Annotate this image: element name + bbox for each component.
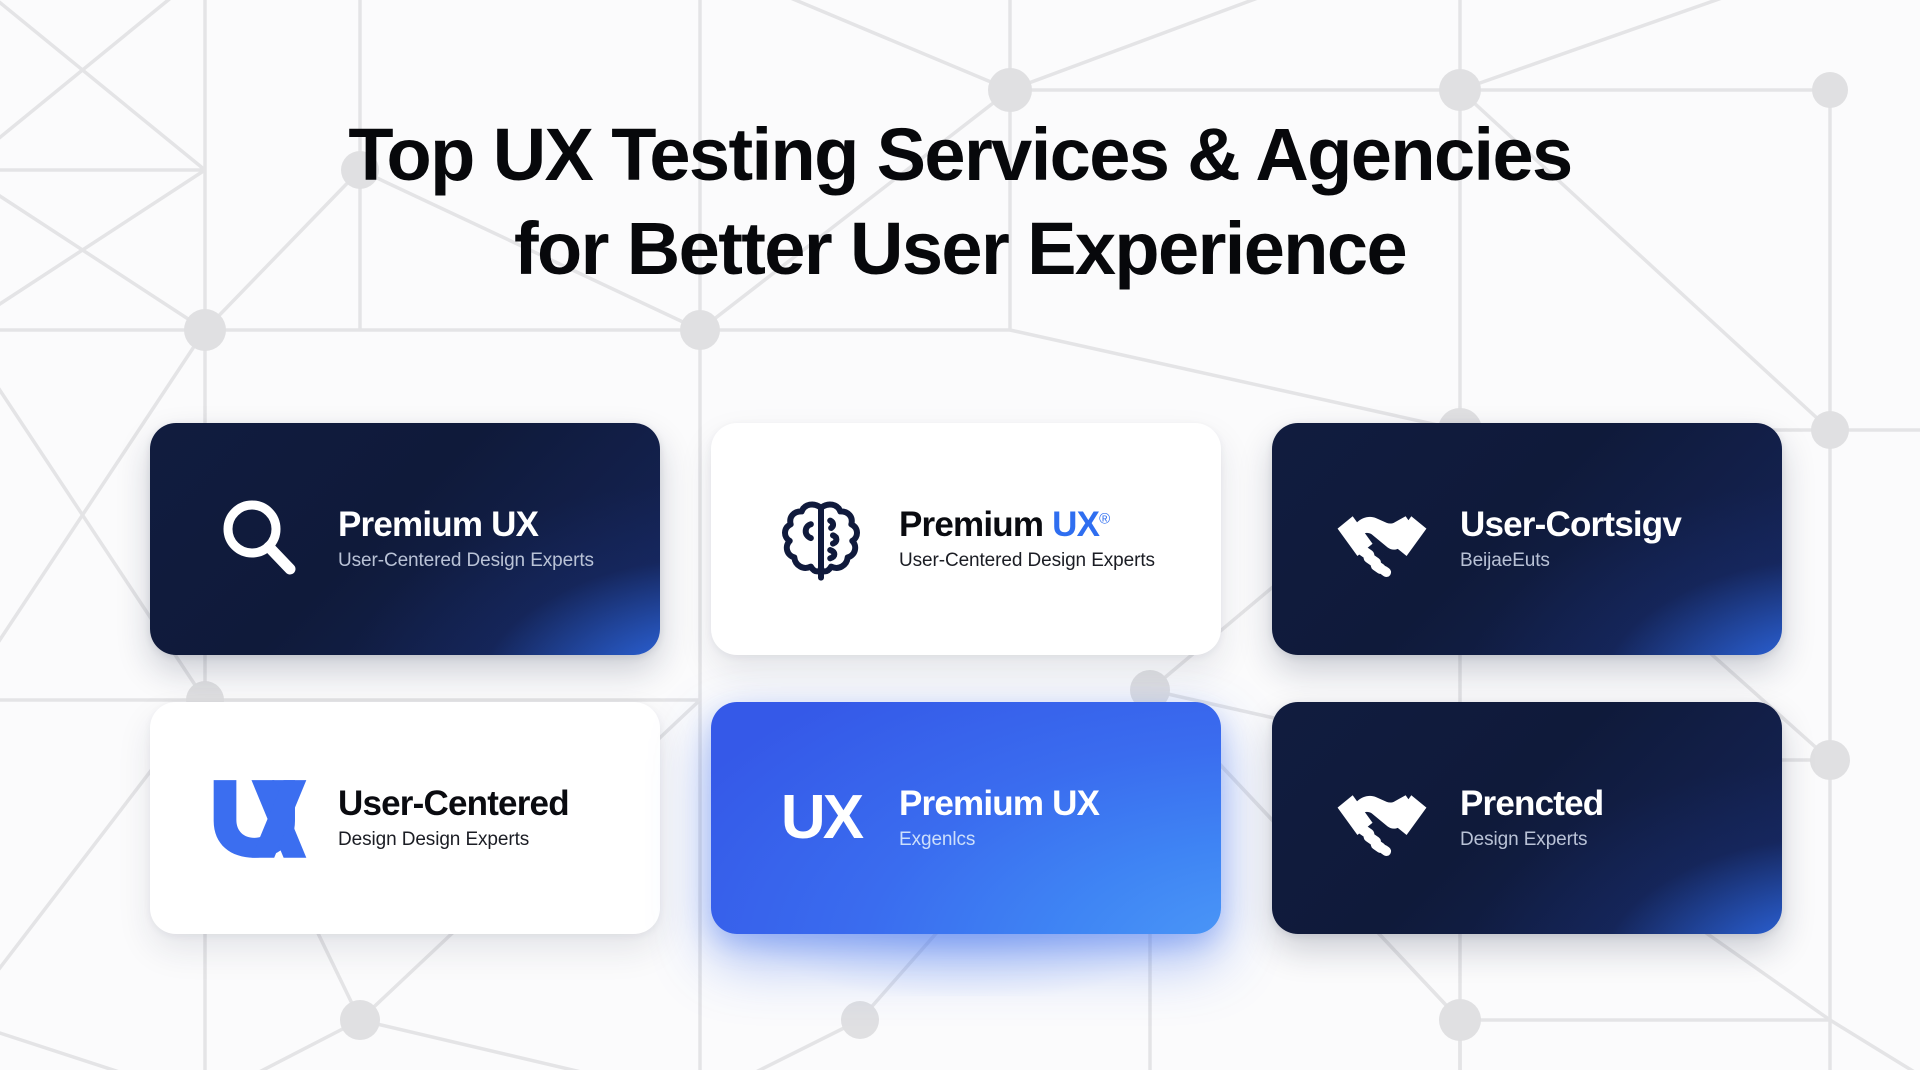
ux-lettermark-icon: UX	[769, 766, 873, 870]
card-title-prefix: Premium	[899, 505, 1052, 544]
page-title: Top UX Testing Services & Agencies for B…	[0, 118, 1920, 286]
card-text-block: Premium UX® User-Centered Design Experts	[899, 505, 1155, 573]
card-subtitle: Design Experts	[1460, 829, 1603, 852]
agency-card-premium-ux-blue[interactable]: UX Premium UX Exgenlcs	[711, 702, 1221, 934]
ux-lettermark-text: UX	[781, 787, 861, 849]
card-text-block: User-Centered Design Design Experts	[338, 784, 569, 852]
card-title: Premium UX®	[899, 505, 1155, 544]
card-title: Premium UX	[338, 505, 594, 544]
ux-lettermark-icon	[208, 766, 312, 870]
agency-card-prencted[interactable]: Prencted Design Experts	[1272, 702, 1782, 934]
card-text-block: User-Cortsigv BeijaeEuts	[1460, 505, 1681, 573]
handshake-icon	[1330, 766, 1434, 870]
poster-canvas: Top UX Testing Services & Agencies for B…	[0, 0, 1920, 1070]
agency-card-grid: Premium UX User-Centered Design Experts	[150, 423, 1782, 934]
card-subtitle: BeijaeEuts	[1460, 550, 1681, 573]
headline-line-1: Top UX Testing Services & Agencies	[0, 118, 1920, 192]
agency-card-user-centered[interactable]: User-Centered Design Design Experts	[150, 702, 660, 934]
card-subtitle: Exgenlcs	[899, 829, 1099, 852]
card-title: User-Centered	[338, 784, 569, 823]
card-title-accent: UX	[1052, 505, 1099, 544]
card-text-block: Premium UX Exgenlcs	[899, 784, 1099, 852]
headline-line-2: for Better User Experience	[0, 212, 1920, 286]
agency-card-user-cortsigv[interactable]: User-Cortsigv BeijaeEuts	[1272, 423, 1782, 655]
handshake-icon	[1330, 487, 1434, 591]
brain-icon	[769, 487, 873, 591]
card-text-block: Premium UX User-Centered Design Experts	[338, 505, 594, 573]
magnifying-glass-icon	[208, 487, 312, 591]
agency-card-premium-ux-search[interactable]: Premium UX User-Centered Design Experts	[150, 423, 660, 655]
card-title: Premium UX	[899, 784, 1099, 823]
card-text-block: Prencted Design Experts	[1460, 784, 1603, 852]
agency-card-premium-ux-brain[interactable]: Premium UX® User-Centered Design Experts	[711, 423, 1221, 655]
registered-trademark-icon: ®	[1099, 510, 1110, 527]
card-title: User-Cortsigv	[1460, 505, 1681, 544]
card-subtitle: User-Centered Design Experts	[899, 550, 1155, 573]
card-subtitle: Design Design Experts	[338, 829, 569, 852]
card-title: Prencted	[1460, 784, 1603, 823]
card-subtitle: User-Centered Design Experts	[338, 550, 594, 573]
